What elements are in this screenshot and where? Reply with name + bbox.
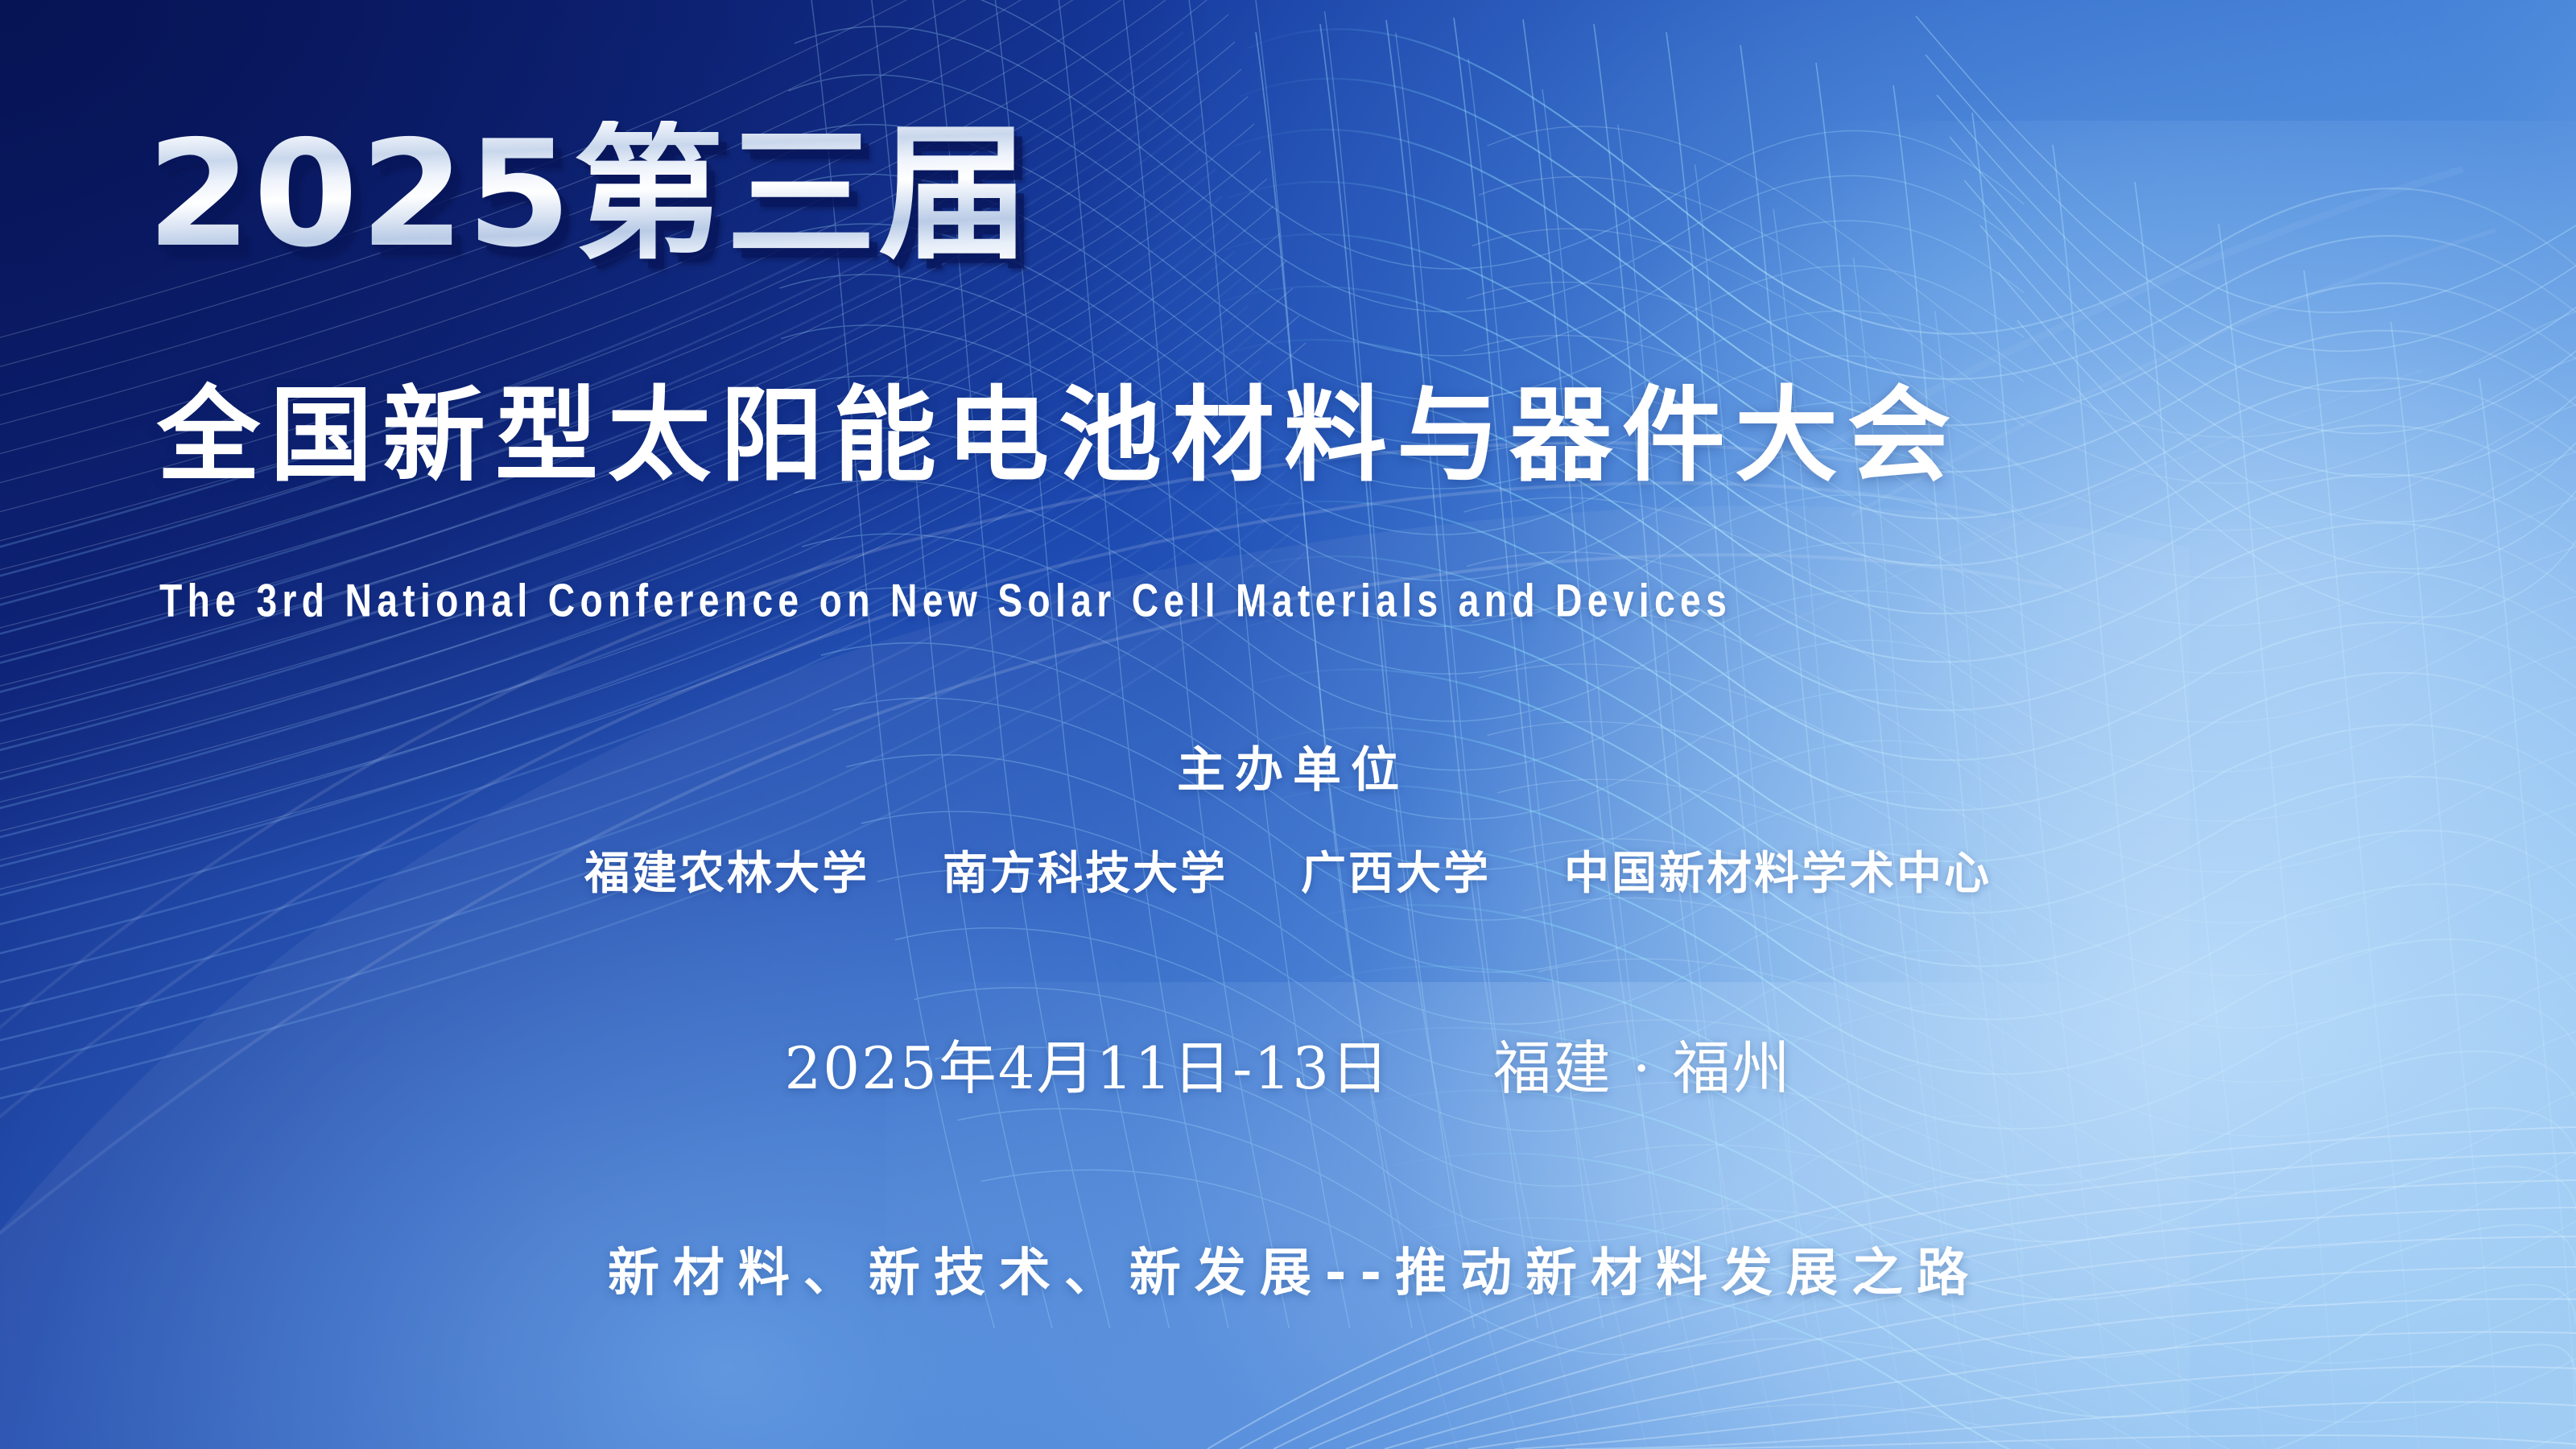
main-title: 全国新型太阳能电池材料与器件大会 bbox=[157, 378, 2435, 493]
edition-title: 2025第三届 bbox=[147, 121, 1031, 267]
conference-date: 2025年4月11日-13日 bbox=[784, 1034, 1390, 1102]
conference-poster: 2025第三届 全国新型太阳能电池材料与器件大会 The 3rd Nationa… bbox=[0, 0, 2576, 1449]
poster-content: 2025第三届 全国新型太阳能电池材料与器件大会 The 3rd Nationa… bbox=[0, 0, 2576, 1449]
organizer-item: 中国新材料学术中心 bbox=[1564, 847, 1992, 900]
conference-location: 福建 · 福州 bbox=[1493, 1034, 1792, 1102]
date-location-line: 2025年4月11日-13日 福建 · 福州 bbox=[0, 1021, 2576, 1105]
organizer-label: 主办单位 bbox=[0, 731, 2576, 801]
conference-slogan: 新材料、新技术、新发展--推动新材料发展之路 bbox=[0, 1232, 2576, 1306]
organizer-item: 福建农林大学 bbox=[584, 847, 869, 900]
sub-title-english: The 3rd National Conference on New Solar… bbox=[159, 573, 2396, 627]
organizer-list: 福建农林大学 南方科技大学 广西大学 中国新材料学术中心 bbox=[0, 837, 2576, 902]
organizer-item: 南方科技大学 bbox=[943, 847, 1228, 900]
organizer-item: 广西大学 bbox=[1301, 847, 1491, 900]
